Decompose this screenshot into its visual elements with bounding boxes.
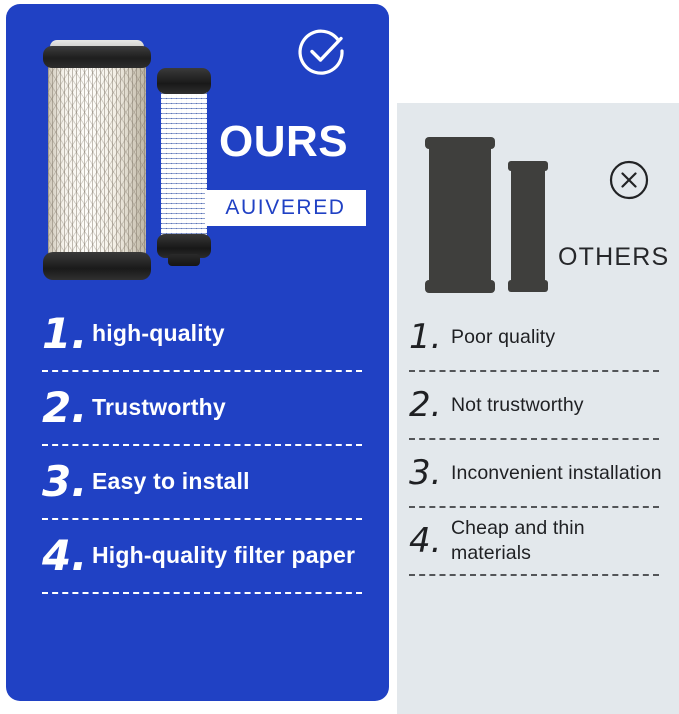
list-item-number: 1. [42, 313, 92, 355]
others-panel: OTHERS 1. Poor quality 2. Not trustworth… [397, 103, 679, 714]
ours-product-images [28, 34, 228, 296]
small-inner-safety-filter [161, 86, 207, 244]
list-item: 1. high-quality [42, 304, 372, 364]
list-item-number: 2. [42, 387, 92, 429]
small-filter-top-cap [157, 68, 211, 94]
list-item-label: High-quality filter paper [92, 542, 372, 570]
large-dark-filter-top-cap [425, 137, 495, 149]
list-item-number: 4. [42, 535, 92, 577]
list-item-label: Not trustworthy [451, 393, 667, 418]
list-item-number: 2. [409, 388, 451, 422]
large-filter-top-cap [43, 46, 151, 68]
list-item-label: Inconvenient installation [451, 461, 667, 486]
large-dark-filter-silhouette [429, 141, 491, 289]
list-item: 2. Not trustworthy [409, 375, 667, 435]
brand-badge: AUIVERED [205, 190, 366, 226]
list-separator [42, 518, 362, 520]
list-separator [409, 574, 659, 576]
list-item-number: 4. [409, 524, 451, 558]
list-separator [409, 370, 659, 372]
list-item-number: 3. [409, 456, 451, 490]
others-product-images [423, 125, 563, 295]
list-item: 4. Cheap and thin materials [409, 511, 667, 571]
list-separator [42, 444, 362, 446]
large-filter-bottom-cap [43, 252, 151, 280]
filter-mesh-texture [48, 56, 146, 266]
ours-panel: OURS AUIVERED 1. high-quality 2. Trustwo… [6, 4, 389, 701]
check-circle-icon [294, 22, 352, 80]
small-dark-filter-bottom-cap [508, 280, 548, 292]
ours-title: OURS [219, 120, 348, 164]
list-item: 1. Poor quality [409, 307, 667, 367]
list-item-label: high-quality [92, 320, 372, 348]
ours-list: 1. high-quality 2. Trustworthy 3. Easy t… [42, 304, 372, 600]
list-separator [42, 370, 362, 372]
list-item: 4. High-quality filter paper [42, 526, 372, 586]
list-item-label: Easy to install [92, 468, 372, 496]
brand-badge-label: AUIVERED [225, 196, 345, 220]
list-separator [42, 592, 362, 594]
list-separator [409, 506, 659, 508]
others-title: OTHERS [558, 243, 673, 272]
list-item: 3. Inconvenient installation [409, 443, 667, 503]
large-dark-filter-bottom-cap [425, 280, 495, 293]
list-item-label: Cheap and thin materials [451, 516, 667, 565]
list-item-label: Poor quality [451, 325, 667, 350]
large-pleated-air-filter [48, 56, 146, 266]
list-separator [409, 438, 659, 440]
small-dark-filter-top-cap [508, 161, 548, 171]
others-list: 1. Poor quality 2. Not trustworthy 3. In… [409, 307, 667, 579]
x-circle-icon [608, 159, 650, 201]
list-item-label: Trustworthy [92, 394, 372, 422]
list-item: 3. Easy to install [42, 452, 372, 512]
small-dark-filter-silhouette [511, 165, 545, 289]
list-item-number: 3. [42, 461, 92, 503]
small-filter-foot [168, 254, 200, 266]
list-item-number: 1. [409, 320, 451, 354]
list-item: 2. Trustworthy [42, 378, 372, 438]
